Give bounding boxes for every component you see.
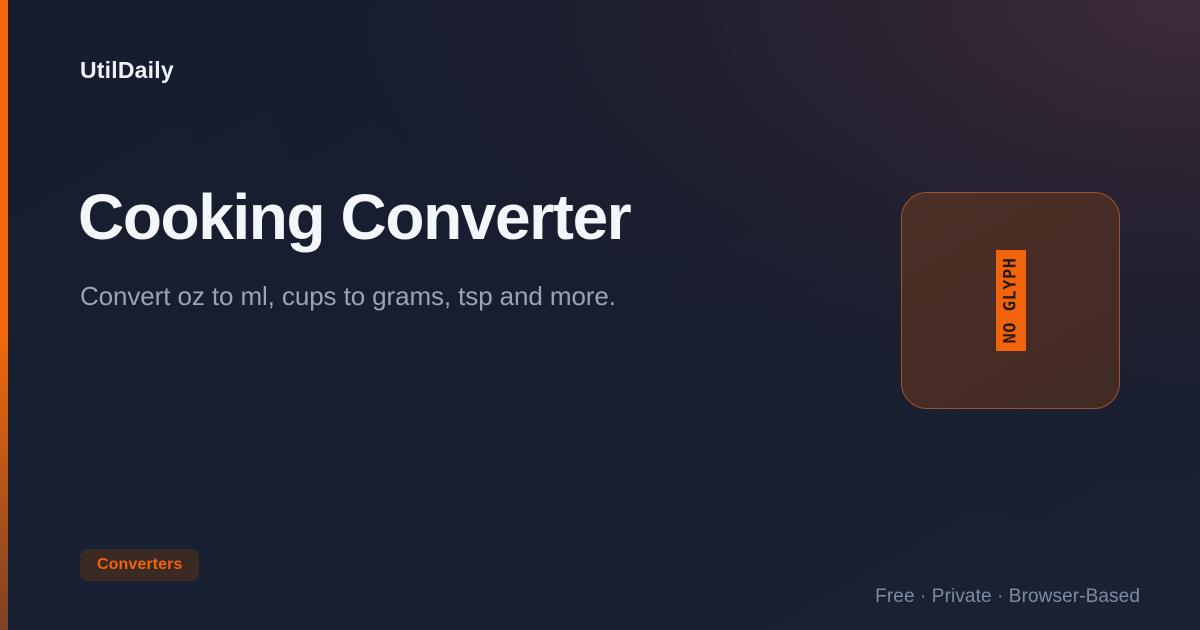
missing-glyph-label: NO GLYPH bbox=[1002, 258, 1019, 344]
category-badge-label: Converters bbox=[97, 556, 182, 574]
footer-tagline: Free · Private · Browser-Based bbox=[875, 586, 1140, 608]
missing-glyph-tofu-icon: NO GLYPH bbox=[996, 250, 1026, 351]
page-subtitle: Convert oz to ml, cups to grams, tsp and… bbox=[80, 280, 616, 314]
og-share-card: UtilDaily Cooking Converter Convert oz t… bbox=[0, 0, 1200, 630]
brand-name: UtilDaily bbox=[80, 57, 174, 84]
page-title: Cooking Converter bbox=[78, 183, 630, 252]
left-accent-bar bbox=[0, 0, 8, 630]
category-badge[interactable]: Converters bbox=[80, 549, 199, 581]
hero-icon-tile: NO GLYPH bbox=[901, 192, 1120, 409]
